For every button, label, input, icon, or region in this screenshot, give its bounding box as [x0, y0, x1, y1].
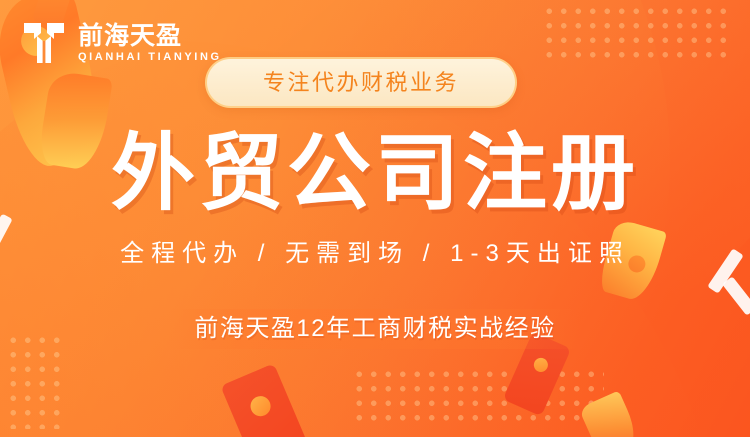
pill-badge-text: 专注代办财税业务 — [263, 72, 459, 94]
ribbon-bottom-right — [579, 390, 642, 437]
brand-name-cn: 前海天盈 — [78, 24, 222, 49]
confetti-card-left — [220, 363, 309, 437]
qianhai-tianying-logo-mark-icon — [22, 20, 66, 66]
bottom-tagline-text: 前海天盈12年工商财税实战经验 — [168, 309, 581, 349]
brand-logo-lockup[interactable]: 前海天盈 QIANHAI TIANYING — [22, 20, 222, 66]
dot-grid-top-right — [542, 4, 728, 58]
tagline-pill-badge: 专注代办财税业务 — [205, 57, 517, 108]
feature-list-line: 全程代办 / 无需到场 / 1-3天出证照 — [0, 242, 750, 266]
brand-text-block: 前海天盈 QIANHAI TIANYING — [78, 24, 222, 63]
headline-title: 外贸公司注册 — [0, 131, 750, 215]
promo-banner: 前海天盈 QIANHAI TIANYING 专注代办财税业务 外贸公司注册 全程… — [0, 0, 750, 437]
dot-grid-bottom-center — [352, 367, 604, 427]
brand-name-en: QIANHAI TIANYING — [78, 52, 222, 63]
bottom-tagline: 前海天盈12年工商财税实战经验 — [0, 309, 750, 349]
